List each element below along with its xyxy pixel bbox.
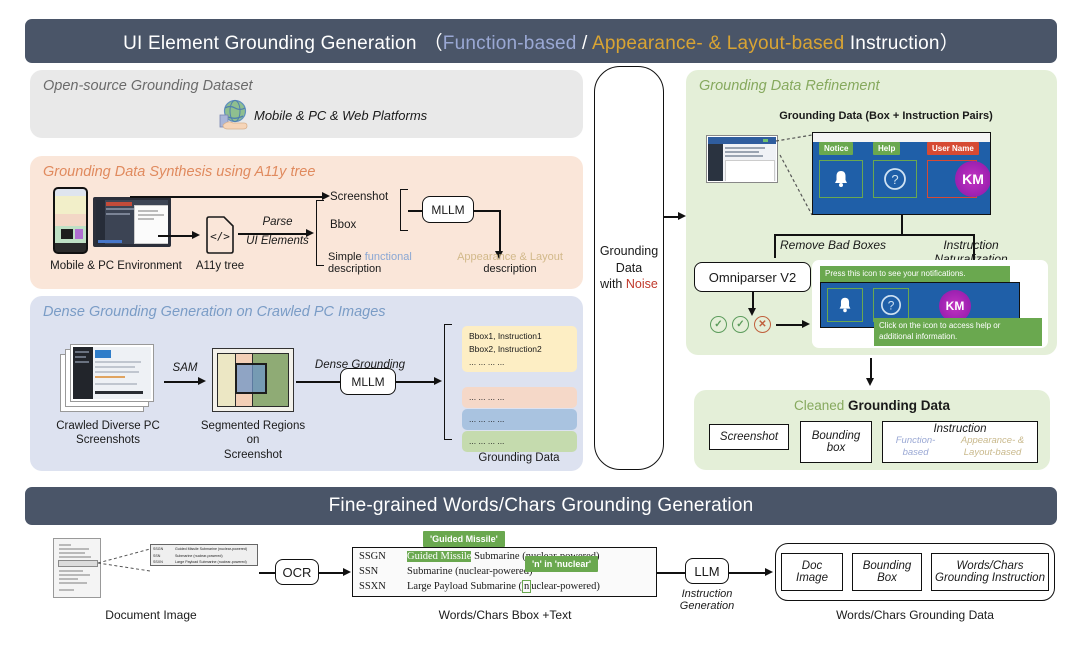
- simple-functional-description: Simple functional description: [328, 251, 433, 275]
- question-circle-icon-2: ?: [880, 294, 902, 316]
- ocr-out-head: [343, 568, 351, 576]
- crawled-screenshots-stack: [60, 342, 160, 414]
- instruction-output-title: Instruction: [883, 423, 1037, 435]
- noise-word: Noise: [626, 277, 658, 291]
- crawled-label-line2: Screenshots: [48, 433, 168, 447]
- dense-mllm-in-line: [296, 381, 340, 383]
- doc-row-2-text: Large Payload Submarine (nuclear-powered…: [175, 559, 247, 566]
- ocr-box: OCR: [275, 559, 319, 585]
- banner-instruction: Instruction: [844, 33, 939, 54]
- grounding-chip-2: ... ... ... ...: [462, 387, 577, 408]
- func-based-line1: Function-: [896, 435, 936, 447]
- appearance-layout-description: Appearance & Layout description: [445, 251, 575, 275]
- arrow-env-to-a11y-head: [192, 231, 200, 239]
- llm-box: LLM: [685, 558, 729, 584]
- ocr-row-2-text: Large Payload Submarine (nuclear-powered…: [407, 580, 600, 595]
- bounding-box-output-box-2: Bounding Box: [852, 553, 922, 591]
- bell-icon-2: [836, 296, 854, 314]
- segmented-regions-label: Segmented Regions on Screenshot: [193, 419, 313, 462]
- char-bbox-tag: 'n' in 'nuclear': [525, 556, 598, 572]
- remove-bad-boxes-label: Remove Bad Boxes: [780, 238, 886, 252]
- banner-paren-open: （: [424, 33, 443, 54]
- grounding-pairs-label: Grounding Data (Box + Instruction Pairs): [721, 110, 1051, 122]
- callout-notifications: Press this icon to see your notification…: [820, 266, 1010, 283]
- bell-selection-box: [827, 288, 863, 322]
- naturalized-instruction-panel: Press this icon to see your notification…: [812, 260, 1048, 348]
- ocr-highlight-word: Guided Missile: [407, 551, 471, 562]
- source-screenshot-thumbnail: [706, 135, 778, 183]
- inst-gen-line1: Instruction: [670, 588, 744, 600]
- box-validation-icons: ✓ ✓ ✕: [710, 316, 771, 333]
- ui-mock-with-boxes: Notice Help ? User Name KM: [812, 132, 991, 215]
- document-image-label: Document Image: [90, 608, 212, 623]
- cross-circle-icon: ✕: [754, 316, 771, 333]
- simple-text: Simple: [328, 251, 365, 263]
- open-source-panel-title: Open-source Grounding Dataset: [43, 78, 253, 94]
- platforms-label: Mobile & PC & Web Platforms: [254, 108, 427, 123]
- words-chars-grounding-data-container: Doc Image Bounding Box Words/Chars Groun…: [775, 543, 1055, 601]
- banner-paren-close: ）: [940, 33, 959, 54]
- cleaned-panel-title: Cleaned Grounding Data: [694, 398, 1050, 413]
- arrow-env-to-screenshot-line: [130, 196, 322, 198]
- refine-left-branch: [774, 234, 776, 258]
- result-1-line2: Box: [877, 572, 897, 584]
- ocr-highlight-char: n: [522, 580, 531, 593]
- result-1-line1: Bounding: [863, 560, 912, 572]
- grounding-chip-4: ... ... ... ...: [462, 431, 577, 452]
- doc-row-1-code: SSN: [153, 553, 175, 560]
- chip1-line2: Bbox2, Instruction2: [469, 343, 570, 356]
- doc-row-0-code: SSGN: [153, 546, 175, 553]
- question-circle-icon: ?: [883, 167, 907, 191]
- omniparser-out-head: [748, 308, 756, 316]
- doc-row-0-text: Guided Missile Submarine (nuclear-powere…: [175, 546, 247, 553]
- sam-arrow-line: [164, 381, 198, 383]
- sam-label: SAM: [164, 362, 206, 374]
- help-selection-box: ?: [873, 160, 917, 198]
- appe-line2: Layout-based: [961, 447, 1024, 459]
- username-tag: User Name: [927, 142, 979, 155]
- ui-elements-label: UI Elements: [240, 235, 315, 247]
- notice-tag: Notice: [819, 142, 853, 155]
- callout-help-line1: Click on the icon to access help or: [879, 321, 1037, 332]
- arrow-env-to-a11y-line: [158, 235, 192, 237]
- bounding-box-line1: Bounding: [812, 430, 861, 442]
- ocr-in-line: [259, 572, 275, 574]
- llm-out-head: [765, 568, 773, 576]
- segmented-label-line1: Segmented Regions on: [193, 419, 313, 448]
- refine-split-stem: [901, 215, 903, 235]
- bottom-banner-title: Fine-grained Words/Chars Grounding Gener…: [329, 495, 754, 517]
- result-2-line1: Words/Chars: [956, 560, 1023, 572]
- screenshot-label: Screenshot: [330, 190, 388, 204]
- words-chars-instruction-output-box: Words/Chars Grounding Instruction: [931, 553, 1049, 591]
- word-bbox-tag: 'Guided Missile': [423, 531, 505, 547]
- bounding-box-output-box: Bounding box: [800, 421, 872, 463]
- func-based-line2: based: [896, 447, 936, 459]
- refinement-panel-title: Grounding Data Refinement: [699, 78, 880, 94]
- check-circle-icon-1: ✓: [710, 316, 727, 333]
- refinement-panel: Grounding Data Refinement Grounding Data…: [686, 70, 1057, 355]
- banner-appearance-layout: Appearance- & Layout-based: [592, 33, 844, 54]
- result-2-line2: Grounding Instruction: [935, 572, 1045, 584]
- screenshot-output-box: Screenshot: [709, 424, 789, 450]
- avatar-text-2: KM: [946, 299, 965, 313]
- instruction-appearance-layout: Appearance- & Layout-based: [961, 435, 1024, 459]
- appe-line1: Appearance- &: [961, 435, 1024, 447]
- bell-icon: [831, 169, 851, 189]
- mllm-out-line-h: [474, 210, 500, 212]
- crawled-label-line1: Crawled Diverse PC: [48, 419, 168, 433]
- validation-out-line: [776, 324, 802, 326]
- avatar-text: KM: [962, 171, 984, 187]
- doc-image-output-box: Doc Image: [781, 553, 843, 591]
- cleaned-grounding-data-panel: Cleaned Grounding Data Screenshot Boundi…: [694, 390, 1050, 470]
- dense-grounding-panel: Dense Grounding Generation on Crawled PC…: [30, 296, 583, 471]
- instruction-generation-label: Instruction Generation: [670, 588, 744, 612]
- segmented-label-line2: Screenshot: [193, 448, 313, 462]
- doc-row-2-code: SSXN: [153, 559, 175, 566]
- segmented-regions-thumbnail: [212, 348, 294, 412]
- doc-row-1-text: Submarine (nuclear-powered): [175, 553, 247, 560]
- mobile-environment-thumbnail: [53, 187, 88, 254]
- parse-output-bracket: [316, 200, 324, 266]
- instruction-function-based: Function- based: [896, 435, 936, 459]
- omniparser-box: Omniparser V2: [694, 262, 811, 292]
- synthesis-panel: Grounding Data Synthesis using A11y tree: [30, 156, 583, 289]
- dense-panel-title: Dense Grounding Generation on Crawled PC…: [43, 304, 386, 320]
- banner-function-based: Function-based: [443, 33, 577, 54]
- crawled-screenshots-label: Crawled Diverse PC Screenshots: [48, 419, 168, 448]
- inst-gen-line2: Generation: [670, 600, 744, 612]
- appearance-desc-line1: Appearance & Layout: [445, 251, 575, 263]
- simple-desc-line2: description: [328, 263, 433, 275]
- dense-mllm-out-head: [434, 377, 442, 385]
- document-zoom-table: SSGN SSN SSXN Guided Missile Submarine (…: [150, 544, 258, 566]
- synthesis-panel-title: Grounding Data Synthesis using A11y tree: [43, 164, 315, 180]
- chip1-line3: ... ... ... ...: [469, 356, 570, 369]
- mllm-input-bracket: [400, 189, 408, 231]
- bbox-label: Bbox: [330, 218, 356, 232]
- arrow-refinement-to-cleaned-head: [866, 378, 874, 386]
- check-circle-icon-2: ✓: [732, 316, 749, 333]
- code-tag-icon: </>: [205, 216, 235, 254]
- grounding-data-with-noise-box: Grounding Data with Noise: [594, 66, 664, 470]
- dense-mllm-out-line: [396, 381, 434, 383]
- notice-selection-box: [819, 160, 863, 198]
- thumbnail-zoom-connectors: [774, 133, 814, 218]
- grounding-chip-1: Bbox1, Instruction1 Bbox2, Instruction2 …: [462, 326, 577, 372]
- mllm-box-synthesis: MLLM: [422, 196, 474, 223]
- svg-text:?: ?: [888, 299, 895, 313]
- llm-out-line: [729, 572, 765, 574]
- appearance-desc-line2: description: [445, 263, 575, 275]
- help-tag: Help: [873, 142, 900, 155]
- result-0-line1: Doc: [802, 560, 822, 572]
- bottom-banner: Fine-grained Words/Chars Grounding Gener…: [25, 487, 1057, 525]
- top-banner-title: UI Element Grounding Generation（Function…: [123, 28, 959, 55]
- arrow-refinement-to-cleaned-line: [870, 358, 872, 380]
- ocr-row-2-code: SSXN: [359, 580, 407, 595]
- document-image-thumbnail: [53, 538, 101, 598]
- arrow-noise-to-refinement-head: [678, 212, 686, 220]
- document-zoom-connectors: [96, 547, 152, 573]
- ocr-out-line: [319, 572, 343, 574]
- functional-text: functional: [365, 251, 412, 263]
- validation-out-head: [802, 320, 810, 328]
- svg-text:?: ?: [891, 172, 898, 187]
- words-chars-grounding-data-label: Words/Chars Grounding Data: [785, 608, 1045, 623]
- mllm-out-line-v: [499, 210, 501, 252]
- ocr-row-0-code: SSGN: [359, 550, 407, 565]
- noise-line1: Grounding: [600, 243, 658, 260]
- refine-split-bar: [774, 234, 974, 236]
- callout-help-line2: additional information.: [879, 332, 1037, 343]
- llm-in-line: [657, 572, 685, 574]
- sam-arrow-head: [198, 377, 206, 385]
- cleaned-title-rest: Grounding Data: [848, 398, 950, 413]
- mobile-pc-environment-label: Mobile & PC Environment: [46, 259, 186, 273]
- instruction-output-box: Instruction Function- based Appearance- …: [882, 421, 1038, 463]
- grounding-data-bracket: [444, 324, 452, 440]
- open-source-panel: Open-source Grounding Dataset Mobile & P…: [30, 70, 583, 138]
- a11y-tree-label: A11y tree: [190, 259, 250, 273]
- ocr-row-1-code: SSN: [359, 565, 407, 580]
- banner-part1: UI Element Grounding Generation: [123, 33, 416, 54]
- noise-line2: Data: [600, 260, 658, 277]
- banner-slash: /: [577, 33, 592, 54]
- help-selection-box-2: ?: [873, 288, 909, 322]
- result-0-line2: Image: [796, 572, 828, 584]
- parse-label: Parse: [240, 216, 315, 228]
- bounding-box-line2: box: [827, 442, 846, 454]
- mllm-box-dense: MLLM: [340, 368, 396, 395]
- mllm-input-line: [408, 210, 422, 212]
- noise-line3-with: with: [600, 277, 626, 291]
- inst-nat-line1: Instruction: [906, 238, 1036, 252]
- avatar: KM: [955, 161, 991, 197]
- cleaned-word: Cleaned: [794, 398, 848, 413]
- arrow-env-to-screenshot-head: [322, 192, 330, 200]
- svg-text:</>: </>: [210, 230, 230, 243]
- words-chars-bbox-label: Words/Chars Bbox +Text: [380, 608, 630, 623]
- grounding-data-label: Grounding Data: [454, 451, 584, 465]
- pc-environment-thumbnail: [93, 197, 171, 247]
- top-banner: UI Element Grounding Generation（Function…: [25, 19, 1057, 63]
- grounding-chip-3: ... ... ... ...: [462, 409, 577, 430]
- chip1-line1: Bbox1, Instruction1: [469, 330, 570, 343]
- globe-in-hand-icon: [216, 99, 254, 131]
- callout-help: Click on the icon to access help or addi…: [874, 318, 1042, 346]
- ocr-result-table: SSGN SSN SSXN Guided Missile Submarine (…: [352, 547, 657, 597]
